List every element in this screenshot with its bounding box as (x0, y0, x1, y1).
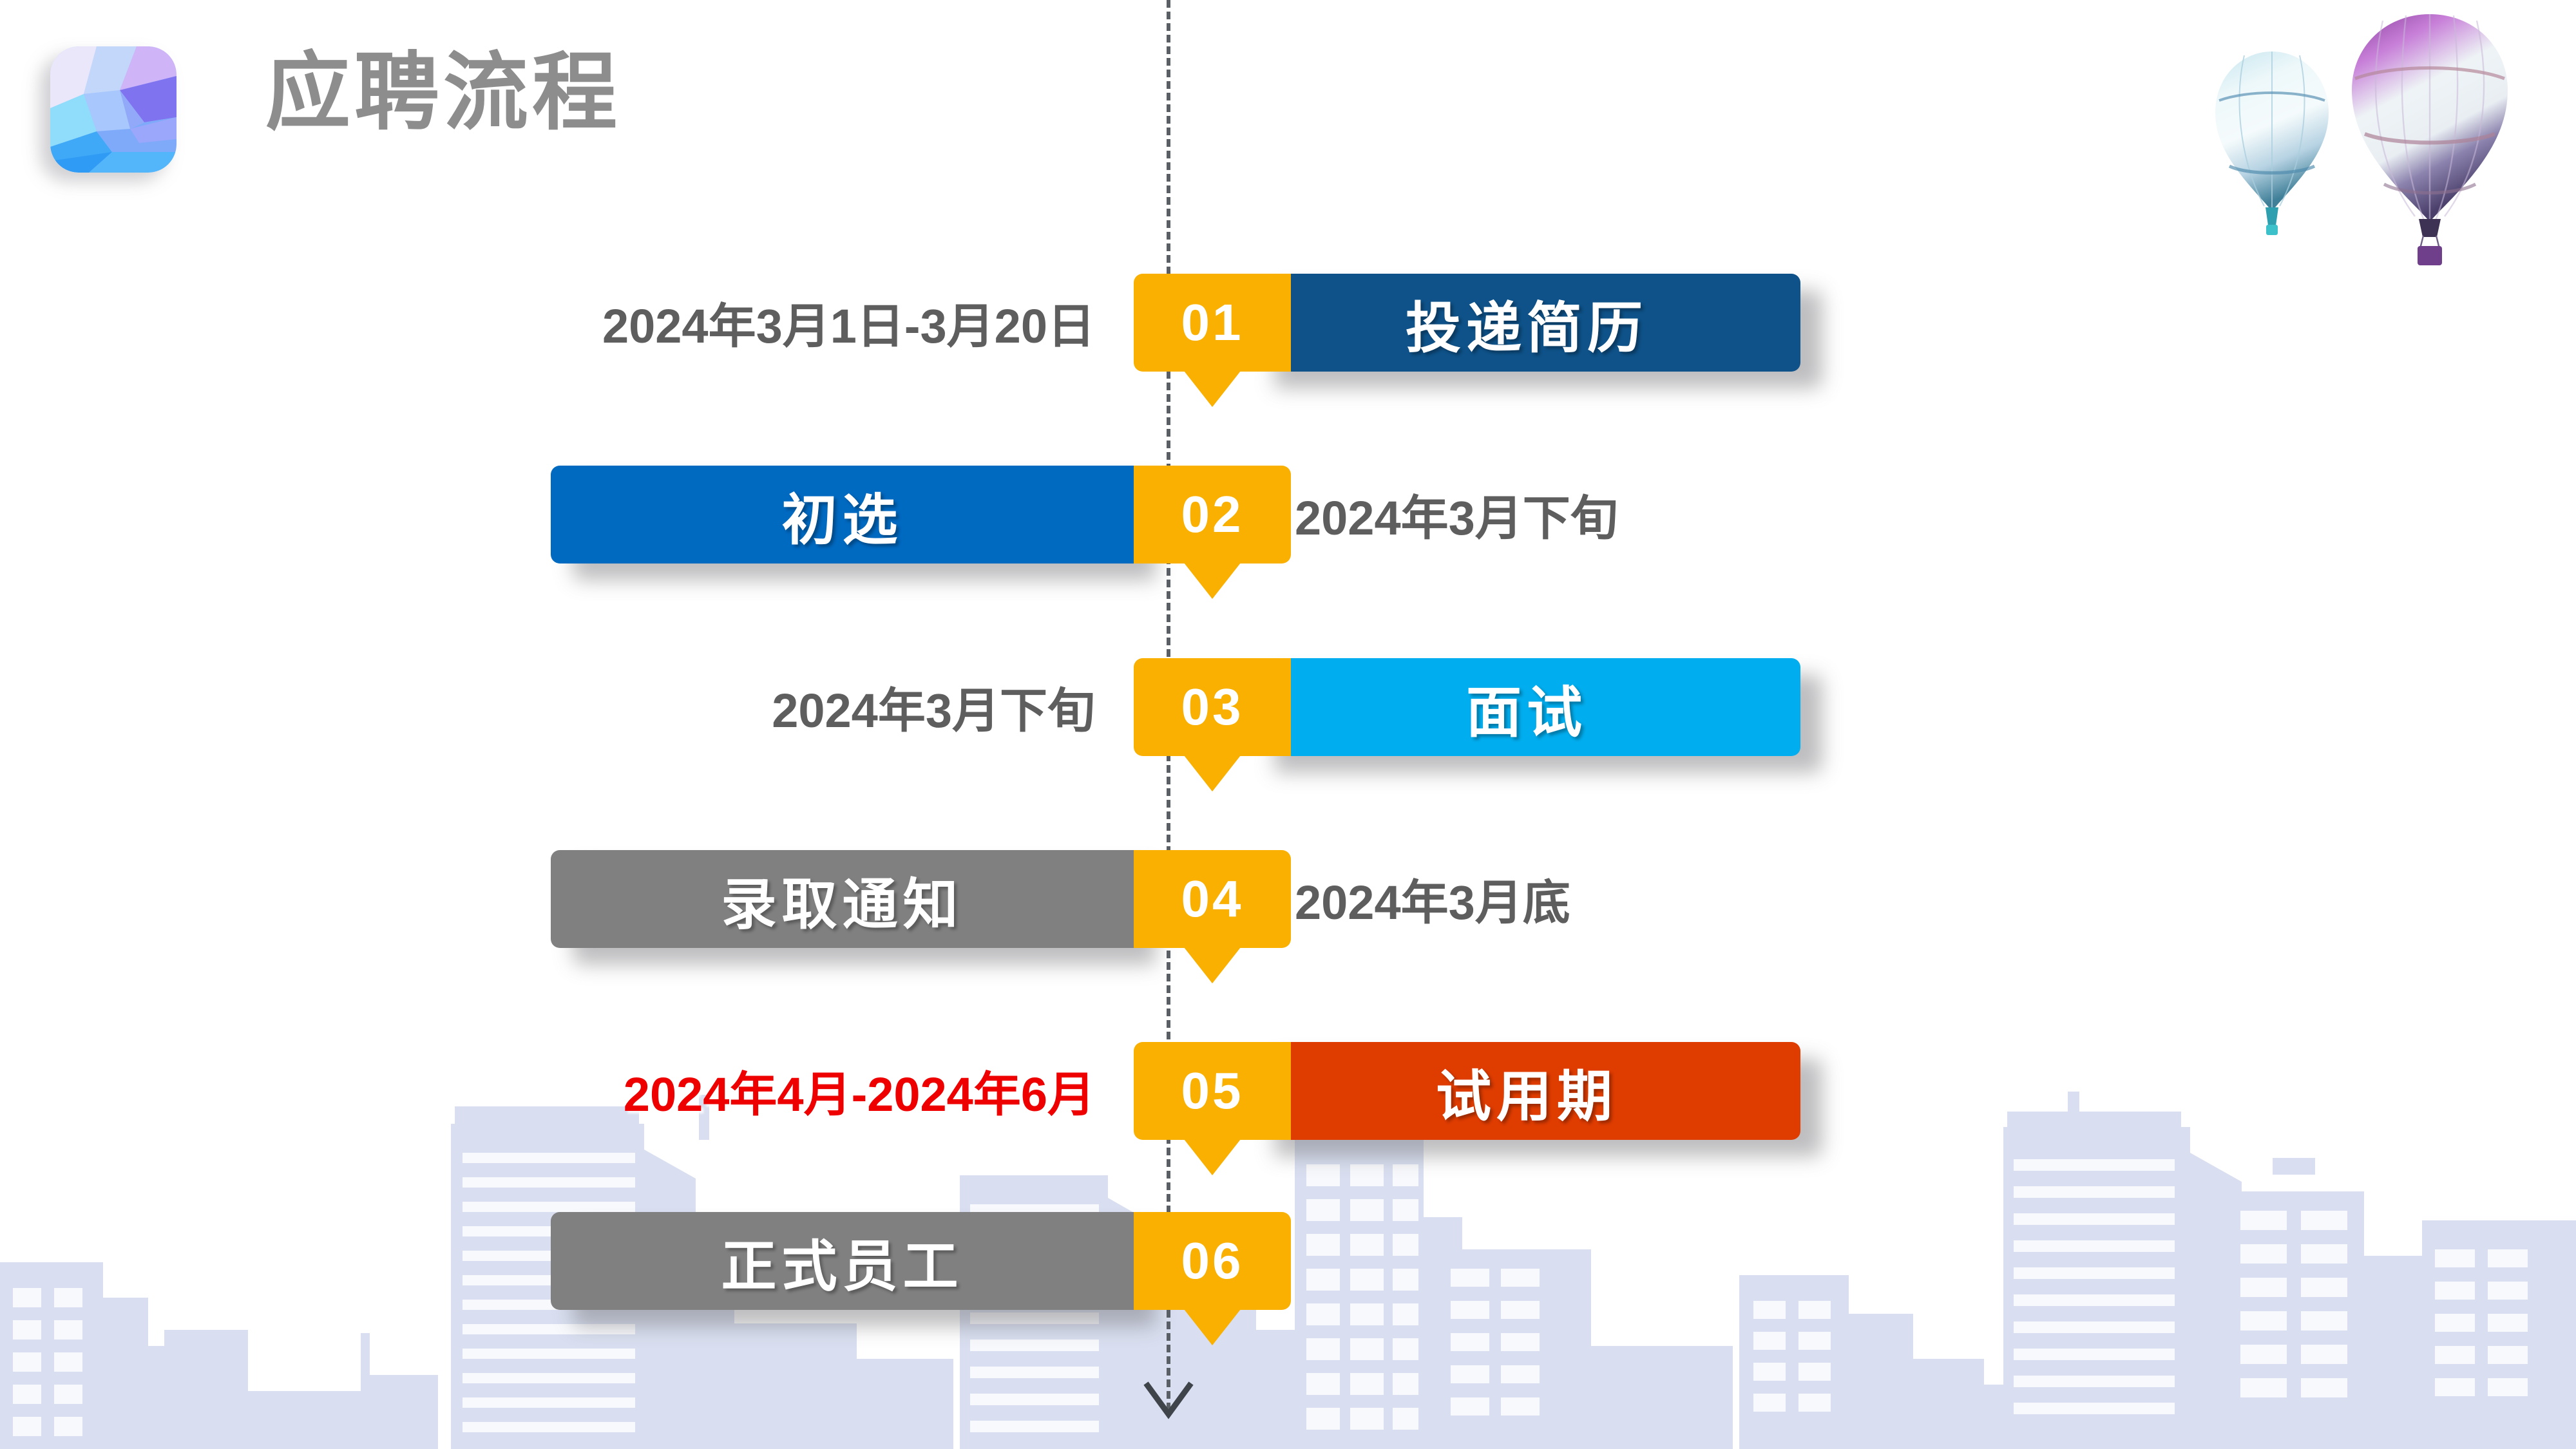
step-date-caption: 2024年3月下旬 (1295, 480, 2068, 549)
step-label: 投递简历 (1406, 283, 1648, 363)
presentation-slide: 应聘流程 2024年3月1日-3月20日 投递简历 01 初选 02 (0, 0, 2576, 1449)
timeline-row: 2024年3月1日-3月20日 投递简历 01 (0, 274, 2576, 390)
badge-pointer-icon (1184, 1139, 1241, 1175)
badge-pointer-icon (1184, 563, 1241, 599)
step-date-caption: 2024年3月下旬 (348, 672, 1095, 741)
step-date-caption: 2024年4月-2024年6月 (303, 1056, 1095, 1125)
timeline-row: 录取通知 04 2024年3月底 (0, 850, 2576, 966)
step-label-bar: 试用期 (1253, 1042, 1800, 1140)
step-date-caption: 2024年3月1日-3月20日 (348, 288, 1095, 357)
step-number: 01 (1134, 274, 1291, 372)
badge-pointer-icon (1184, 947, 1241, 983)
badge-pointer-icon (1184, 371, 1241, 407)
step-label-bar: 面试 (1253, 658, 1800, 756)
timeline-row: 2024年4月-2024年6月 试用期 05 (0, 1042, 2576, 1158)
step-label: 正式员工 (721, 1221, 964, 1302)
step-label: 初选 (782, 475, 903, 555)
step-number: 06 (1134, 1212, 1291, 1310)
badge-pointer-icon (1184, 755, 1241, 791)
step-number: 04 (1134, 850, 1291, 948)
step-number: 02 (1134, 466, 1291, 563)
step-label: 录取通知 (721, 859, 964, 940)
step-number-badge: 01 (1134, 274, 1291, 372)
step-label-bar: 投递简历 (1253, 274, 1800, 372)
step-label: 面试 (1466, 667, 1587, 748)
step-number-badge: 06 (1134, 1212, 1291, 1310)
step-number-badge: 03 (1134, 658, 1291, 756)
timeline-row: 初选 02 2024年3月下旬 (0, 466, 2576, 582)
step-number: 03 (1134, 658, 1291, 756)
step-number-badge: 05 (1134, 1042, 1291, 1140)
down-arrow-icon (1141, 1378, 1196, 1423)
badge-pointer-icon (1184, 1309, 1241, 1345)
recruitment-timeline: 2024年3月1日-3月20日 投递简历 01 初选 02 2024年3月下旬 … (0, 0, 2576, 1449)
timeline-row: 2024年3月下旬 面试 03 (0, 658, 2576, 774)
step-label: 试用期 (1436, 1051, 1617, 1132)
step-label-bar: 初选 (551, 466, 1134, 563)
timeline-row: 正式员工 06 (0, 1212, 2576, 1328)
step-label-bar: 录取通知 (551, 850, 1134, 948)
step-number-badge: 04 (1134, 850, 1291, 948)
step-number: 05 (1134, 1042, 1291, 1140)
step-number-badge: 02 (1134, 466, 1291, 563)
step-date-caption: 2024年3月底 (1295, 864, 2068, 933)
step-label-bar: 正式员工 (551, 1212, 1134, 1310)
